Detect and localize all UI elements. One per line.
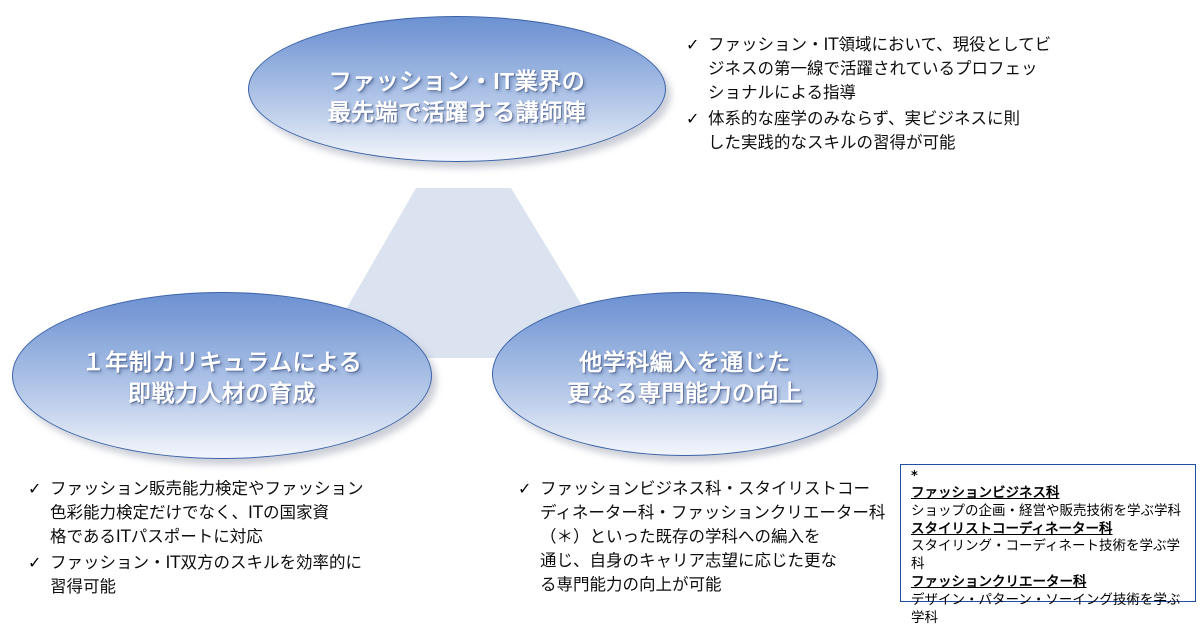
bullet-line: 色彩能力検定だけでなく、ITの国家資 [50,501,428,525]
ellipse-top-lecturers[interactable]: ファッション・IT業界の 最先端で活躍する講師陣 [248,16,666,162]
bullet-list-curriculum: ✓ ファッション販売能力検定やファッション 色彩能力検定だけでなく、ITの国家資… [28,477,428,601]
check-icon: ✓ [518,477,540,500]
ellipse-top-line1: ファッション・IT業界の [328,66,587,97]
bullet-text: 体系的な座学のみならず、実ビジネスに則 した実践的なスキルの習得が可能 [708,107,1186,155]
bullet-line: した実践的なスキルの習得が可能 [708,131,1186,155]
ellipse-left-line2: 即戦力人材の育成 [82,378,363,409]
legend-entry-title: スタイリストコーディネーター科 [911,521,1187,539]
bullet-line: ファッション・IT双方のスキルを効率的に [50,551,428,575]
bullet-list-lecturers: ✓ ファッション・IT領域において、現役としてビ ジネスの第一線で活躍されている… [686,33,1186,157]
bullet-line: 通じ、自身のキャリア志望に応じた更な [540,549,898,573]
bullet-item: ✓ 体系的な座学のみならず、実ビジネスに則 した実践的なスキルの習得が可能 [686,107,1186,155]
bullet-line: ディネーター科・ファッションクリエーター科 [540,501,898,525]
ellipse-left-line1: １年制カリキュラムによる [82,347,363,378]
legend-entry-desc: スタイリング・コーディネート技術を学ぶ学科 [911,538,1187,574]
bullet-line: （＊）といった既存の学科への編入を [540,525,898,549]
legend-entry-title: ファッションクリエーター科 [911,574,1187,592]
bullet-line: 習得可能 [50,575,428,599]
ellipse-right-text: 他学科編入を通じた 更なる専門能力の向上 [540,347,831,409]
asterisk-icon: * [911,470,1187,485]
legend-entry-desc: ショップの企画・経営や販売技術を学ぶ学科 [911,503,1187,521]
diagram-canvas: ファッション・IT業界の 最先端で活躍する講師陣 １年制カリキュラムによる 即戦… [0,0,1200,630]
bullet-text: ファッション・IT双方のスキルを効率的に 習得可能 [50,551,428,599]
bullet-list-transfer: ✓ ファッションビジネス科・スタイリストコー ディネーター科・ファッションクリエ… [518,477,898,599]
check-icon: ✓ [686,33,708,56]
ellipse-right-line1: 他学科編入を通じた [568,347,803,378]
ellipse-right-line2: 更なる専門能力の向上 [568,378,803,409]
bullet-item: ✓ ファッション・IT双方のスキルを効率的に 習得可能 [28,551,428,599]
check-icon: ✓ [686,107,708,130]
bullet-item: ✓ ファッション販売能力検定やファッション 色彩能力検定だけでなく、ITの国家資… [28,477,428,549]
bullet-text: ファッション・IT領域において、現役としてビ ジネスの第一線で活躍されているプロ… [708,33,1186,105]
bullet-item: ✓ ファッションビジネス科・スタイリストコー ディネーター科・ファッションクリエ… [518,477,898,597]
ellipse-top-text: ファッション・IT業界の 最先端で活躍する講師陣 [300,66,615,128]
bullet-text: ファッションビジネス科・スタイリストコー ディネーター科・ファッションクリエータ… [540,477,898,597]
bullet-line: 体系的な座学のみならず、実ビジネスに則 [708,107,1186,131]
ellipse-left-text: １年制カリキュラムによる 即戦力人材の育成 [54,347,391,409]
bullet-line: ファッション販売能力検定やファッション [50,477,428,501]
bullet-line: る専門能力の向上が可能 [540,573,898,597]
bullet-text: ファッション販売能力検定やファッション 色彩能力検定だけでなく、ITの国家資 格… [50,477,428,549]
footnote-legend-box: * ファッションビジネス科 ショップの企画・経営や販売技術を学ぶ学科 スタイリス… [900,464,1196,602]
bullet-line: ショナルによる指導 [708,81,1186,105]
check-icon: ✓ [28,477,50,500]
bullet-line: ジネスの第一線で活躍されているプロフェッ [708,57,1186,81]
bullet-item: ✓ ファッション・IT領域において、現役としてビ ジネスの第一線で活躍されている… [686,33,1186,105]
ellipse-left-curriculum[interactable]: １年制カリキュラムによる 即戦力人材の育成 [12,292,432,459]
ellipse-top-line2: 最先端で活躍する講師陣 [328,97,587,128]
check-icon: ✓ [28,551,50,574]
legend-entry-title: ファッションビジネス科 [911,485,1187,503]
bullet-line: 格であるITパスポートに対応 [50,525,428,549]
ellipse-right-transfer[interactable]: 他学科編入を通じた 更なる専門能力の向上 [492,292,878,456]
bullet-line: ファッション・IT領域において、現役としてビ [708,33,1186,57]
bullet-line: ファッションビジネス科・スタイリストコー [540,477,898,501]
legend-entry-desc: デザイン・パターン・ソーイング技術を学ぶ学科 [911,592,1187,628]
